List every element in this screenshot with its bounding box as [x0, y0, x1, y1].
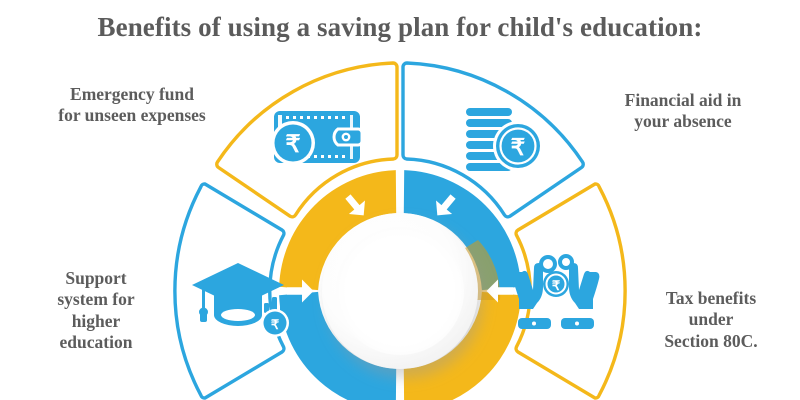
svg-text:₹: ₹ [552, 278, 561, 293]
label-emergency-fund: Emergency fund for unseen expenses [22, 84, 242, 127]
graduation-cap-rupee-icon: ₹ [192, 257, 294, 342]
label-tax-benefits: Tax benefits under Section 80C. [622, 288, 800, 352]
coin-stack-rupee-icon: ₹ [460, 100, 552, 181]
wallet-rupee-icon: ₹ [266, 101, 370, 178]
label-financial-aid: Financial aid in your absence [572, 90, 794, 133]
infographic-canvas: Benefits of using a saving plan for chil… [0, 0, 800, 400]
center-hub[interactable] [322, 213, 478, 369]
svg-text:₹: ₹ [271, 317, 280, 332]
label-support-system: Support system for higher education [6, 268, 186, 353]
hands-holding-coins-icon: ₹ [512, 252, 600, 337]
svg-text:₹: ₹ [511, 135, 526, 160]
svg-text:₹: ₹ [285, 132, 300, 158]
